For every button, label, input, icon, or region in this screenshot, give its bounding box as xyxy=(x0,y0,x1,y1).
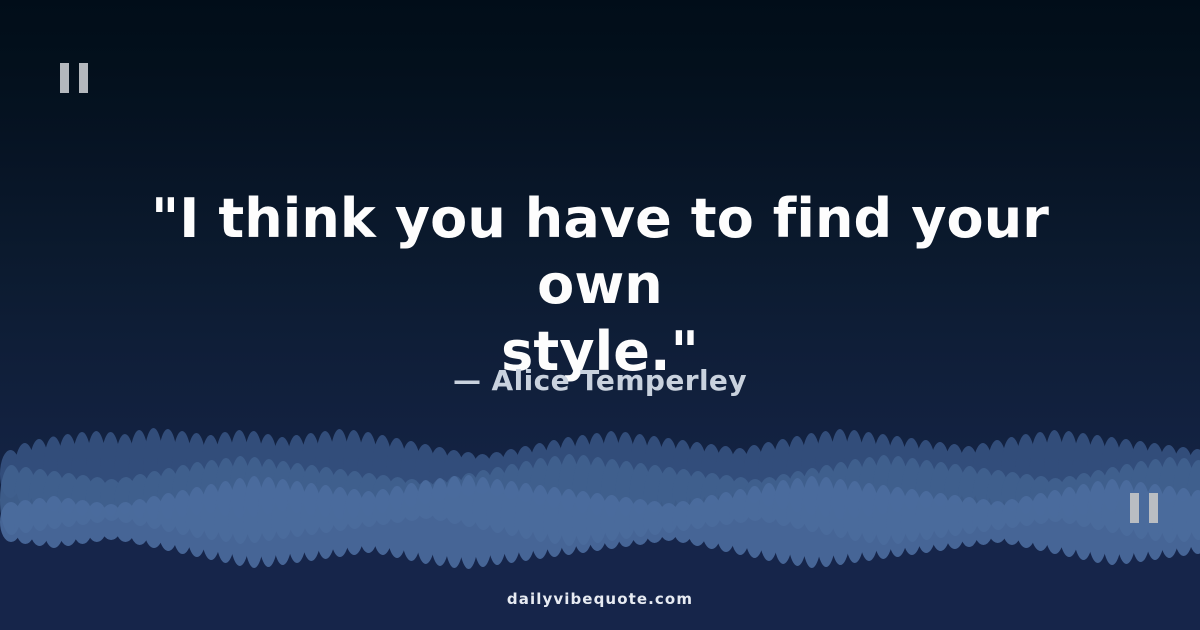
quote-line-1: "I think you have to find your own xyxy=(151,187,1049,316)
quote-bar-right xyxy=(1149,493,1158,523)
quote-attribution: — Alice Temperley xyxy=(150,364,1050,397)
quote-bar-left xyxy=(1130,493,1139,523)
footer-site-url: dailyvibequote.com xyxy=(0,590,1200,608)
quote-text: "I think you have to find your own style… xyxy=(110,186,1090,385)
quote-bar-right xyxy=(79,63,88,93)
quote-mark-open-icon xyxy=(60,63,88,93)
quote-card: "I think you have to find your own style… xyxy=(0,0,1200,630)
quote-bar-left xyxy=(60,63,69,93)
quote-mark-close-icon xyxy=(1130,493,1158,523)
